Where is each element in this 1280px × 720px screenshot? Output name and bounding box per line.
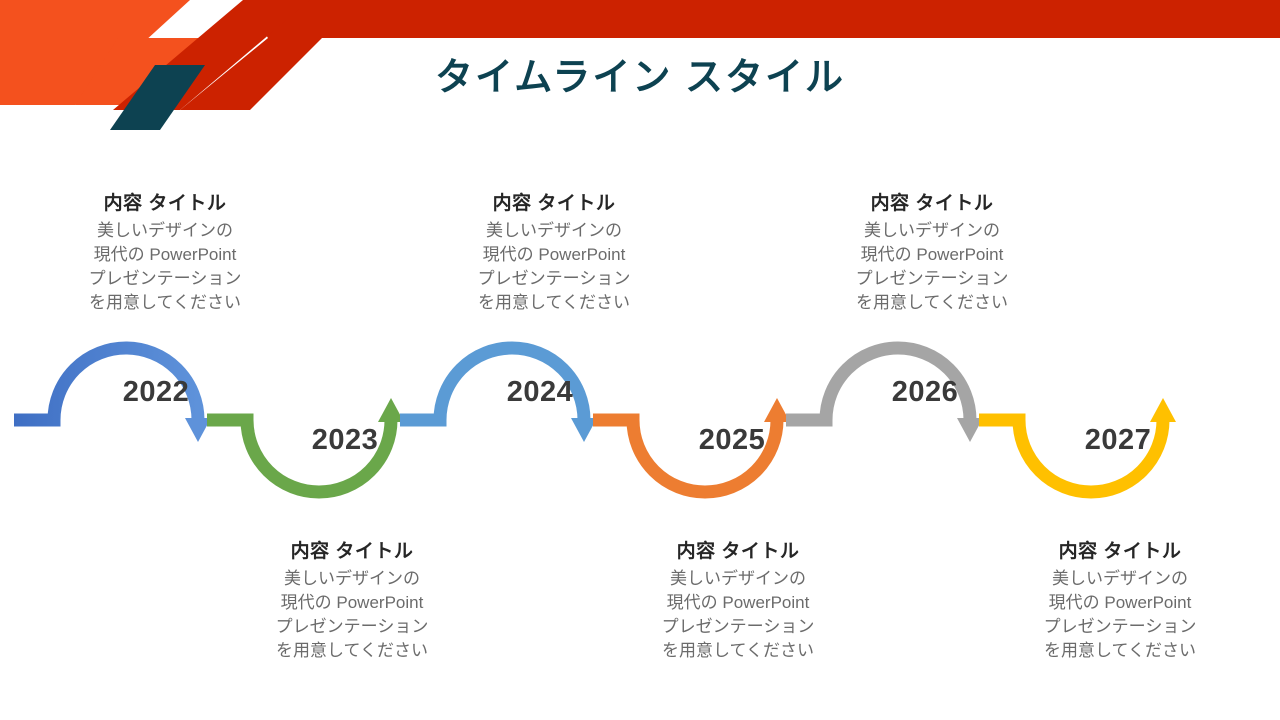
content-block-2026: 内容 タイトル 美しいデザインの 現代の PowerPoint プレゼンテーショ…	[812, 188, 1052, 316]
content-heading: 内容 タイトル	[232, 536, 472, 563]
content-block-2027: 内容 タイトル 美しいデザインの 現代の PowerPoint プレゼンテーショ…	[1000, 536, 1240, 664]
content-body-line: 現代の PowerPoint	[1000, 591, 1240, 615]
content-body-line: 現代の PowerPoint	[45, 243, 285, 267]
content-body-line: 美しいデザインの	[434, 219, 674, 243]
content-body-line: を用意してください	[232, 639, 472, 663]
year-label-2026: 2026	[865, 376, 985, 409]
timeline-arrowhead-2027	[1150, 398, 1176, 422]
content-body-line: 美しいデザインの	[232, 567, 472, 591]
content-block-2023: 内容 タイトル 美しいデザインの 現代の PowerPoint プレゼンテーショ…	[232, 536, 472, 664]
content-body-line: を用意してください	[1000, 639, 1240, 663]
content-body-line: を用意してください	[434, 291, 674, 315]
content-body-line: プレゼンテーション	[232, 615, 472, 639]
content-heading: 内容 タイトル	[618, 536, 858, 563]
content-block-2024: 内容 タイトル 美しいデザインの 現代の PowerPoint プレゼンテーショ…	[434, 188, 674, 316]
page-title: タイムライン スタイル	[0, 46, 1280, 101]
content-body: 美しいデザインの 現代の PowerPoint プレゼンテーション を用意してく…	[1000, 567, 1240, 664]
content-body: 美しいデザインの 現代の PowerPoint プレゼンテーション を用意してく…	[618, 567, 858, 664]
red-parallelogram-shape	[243, 0, 1280, 38]
year-label-2027: 2027	[1058, 424, 1178, 457]
content-block-2025: 内容 タイトル 美しいデザインの 現代の PowerPoint プレゼンテーショ…	[618, 536, 858, 664]
content-block-2022: 内容 タイトル 美しいデザインの 現代の PowerPoint プレゼンテーショ…	[45, 188, 285, 316]
year-label-2023: 2023	[285, 424, 405, 457]
year-label-2024: 2024	[480, 376, 600, 409]
content-body: 美しいデザインの 現代の PowerPoint プレゼンテーション を用意してく…	[232, 567, 472, 664]
content-body-line: 現代の PowerPoint	[618, 591, 858, 615]
year-label-2025: 2025	[672, 424, 792, 457]
year-label-2022: 2022	[96, 376, 216, 409]
content-body-line: 美しいデザインの	[812, 219, 1052, 243]
content-body-line: 美しいデザインの	[1000, 567, 1240, 591]
content-body-line: 美しいデザインの	[618, 567, 858, 591]
content-body-line: を用意してください	[812, 291, 1052, 315]
content-heading: 内容 タイトル	[812, 188, 1052, 215]
content-body-line: 現代の PowerPoint	[812, 243, 1052, 267]
content-body-line: プレゼンテーション	[618, 615, 858, 639]
content-heading: 内容 タイトル	[434, 188, 674, 215]
content-heading: 内容 タイトル	[1000, 536, 1240, 563]
content-body-line: プレゼンテーション	[45, 267, 285, 291]
content-body-line: プレゼンテーション	[434, 267, 674, 291]
content-body: 美しいデザインの 現代の PowerPoint プレゼンテーション を用意してく…	[434, 219, 674, 316]
content-body-line: 美しいデザインの	[45, 219, 285, 243]
content-body: 美しいデザインの 現代の PowerPoint プレゼンテーション を用意してく…	[812, 219, 1052, 316]
content-body-line: を用意してください	[618, 639, 858, 663]
content-heading: 内容 タイトル	[45, 188, 285, 215]
content-body-line: 現代の PowerPoint	[232, 591, 472, 615]
content-body-line: 現代の PowerPoint	[434, 243, 674, 267]
content-body-line: を用意してください	[45, 291, 285, 315]
content-body-line: プレゼンテーション	[812, 267, 1052, 291]
content-body-line: プレゼンテーション	[1000, 615, 1240, 639]
content-body: 美しいデザインの 現代の PowerPoint プレゼンテーション を用意してく…	[45, 219, 285, 316]
